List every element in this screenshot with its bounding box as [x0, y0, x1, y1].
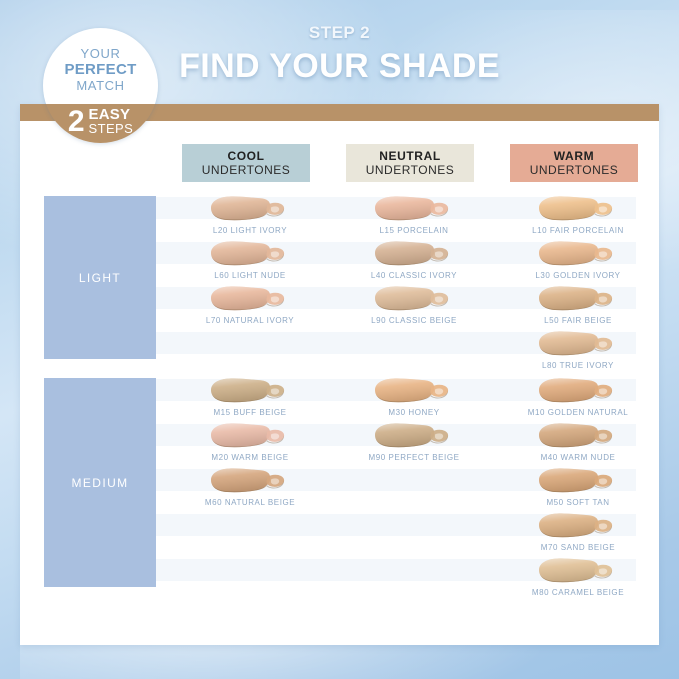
badge-line-easy: EASY — [89, 107, 131, 122]
shade-swatch-shape — [369, 194, 459, 225]
shade-name-label: L80 TRUE IVORY — [504, 361, 652, 371]
shade-cell[interactable]: L40 CLASSIC IVORY — [340, 239, 488, 281]
column-header-warm[interactable]: WARM UNDERTONES — [510, 144, 638, 182]
shade-name-label: M50 SOFT TAN — [504, 498, 652, 508]
badge-bottom-half: 2 EASY STEPS — [43, 104, 158, 143]
shade-swatch-shape — [533, 239, 623, 270]
shade-name-label: L90 CLASSIC BEIGE — [340, 316, 488, 326]
shade-finder-infographic: STEP 2 FIND YOUR SHADE YOUR PERFECT MATC… — [0, 0, 679, 679]
shade-swatch — [205, 421, 295, 452]
column-header-neutral[interactable]: NEUTRAL UNDERTONES — [346, 144, 474, 182]
shade-name-label: M30 HONEY — [340, 408, 488, 418]
shade-name-label: L20 LIGHT IVORY — [176, 226, 324, 236]
shade-swatch-shape — [369, 421, 459, 452]
shade-cell[interactable]: L80 TRUE IVORY — [504, 329, 652, 371]
shade-cell[interactable]: L70 NATURAL IVORY — [176, 284, 324, 326]
column-header-cool[interactable]: COOL UNDERTONES — [182, 144, 310, 182]
shade-cell[interactable]: L20 LIGHT IVORY — [176, 194, 324, 236]
shade-cell[interactable]: M50 SOFT TAN — [504, 466, 652, 508]
shade-cell[interactable]: M20 WARM BEIGE — [176, 421, 324, 463]
badge-step-number: 2 — [68, 107, 85, 137]
shade-chart-card: COOL UNDERTONES NEUTRAL UNDERTONES WARM … — [20, 104, 659, 645]
shade-cell[interactable]: M10 GOLDEN NATURAL — [504, 376, 652, 418]
column-header-warm-title: WARM — [554, 149, 594, 163]
shade-swatch — [369, 194, 459, 225]
shade-swatch-shape — [205, 239, 295, 270]
shade-swatch — [533, 556, 623, 587]
shade-name-label: M20 WARM BEIGE — [176, 453, 324, 463]
shade-swatch — [533, 376, 623, 407]
shade-cell[interactable]: L10 FAIR PORCELAIN — [504, 194, 652, 236]
group-label-light: LIGHT — [79, 271, 121, 285]
shade-swatch-shape — [533, 329, 623, 360]
shade-name-label: L10 FAIR PORCELAIN — [504, 226, 652, 236]
shade-cell[interactable]: M90 PERFECT BEIGE — [340, 421, 488, 463]
badge-top-half: YOUR PERFECT MATCH — [43, 28, 158, 104]
shade-swatch — [369, 376, 459, 407]
shade-name-label: L70 NATURAL IVORY — [176, 316, 324, 326]
shade-cell[interactable]: M15 BUFF BEIGE — [176, 376, 324, 418]
shade-cell[interactable]: M70 SAND BEIGE — [504, 511, 652, 553]
shade-swatch — [369, 421, 459, 452]
shade-name-label: L30 GOLDEN IVORY — [504, 271, 652, 281]
shade-swatch — [205, 194, 295, 225]
shade-name-label: M70 SAND BEIGE — [504, 543, 652, 553]
group-block-medium[interactable]: MEDIUM — [44, 378, 156, 587]
shade-name-label: M90 PERFECT BEIGE — [340, 453, 488, 463]
column-header-neutral-title: NEUTRAL — [379, 149, 441, 163]
shade-swatch — [205, 376, 295, 407]
shade-swatch-shape — [533, 194, 623, 225]
badge-line-match: MATCH — [76, 78, 124, 93]
shade-cell[interactable]: M60 NATURAL BEIGE — [176, 466, 324, 508]
shade-swatch — [533, 421, 623, 452]
shade-swatch — [205, 284, 295, 315]
column-header-neutral-subtitle: UNDERTONES — [366, 163, 455, 178]
shade-swatch — [533, 284, 623, 315]
shade-swatch — [533, 239, 623, 270]
shade-name-label: M15 BUFF BEIGE — [176, 408, 324, 418]
shade-name-label: L40 CLASSIC IVORY — [340, 271, 488, 281]
shade-cell[interactable]: L50 FAIR BEIGE — [504, 284, 652, 326]
shade-swatch-shape — [369, 284, 459, 315]
shade-swatch-shape — [533, 284, 623, 315]
shade-name-label: M10 GOLDEN NATURAL — [504, 408, 652, 418]
shade-swatch — [533, 194, 623, 225]
shade-swatch-shape — [205, 284, 295, 315]
column-header-warm-subtitle: UNDERTONES — [530, 163, 619, 178]
shade-name-label: M80 CARAMEL BEIGE — [504, 588, 652, 598]
shade-swatch-shape — [205, 194, 295, 225]
shade-swatch-shape — [205, 421, 295, 452]
shade-swatch-shape — [533, 556, 623, 587]
shade-swatch — [533, 511, 623, 542]
shade-cell[interactable]: M30 HONEY — [340, 376, 488, 418]
undertone-column-headers: COOL UNDERTONES NEUTRAL UNDERTONES WARM … — [20, 144, 659, 182]
shade-name-label: M60 NATURAL BEIGE — [176, 498, 324, 508]
group-label-medium: MEDIUM — [71, 476, 128, 490]
column-header-cool-title: COOL — [227, 149, 264, 163]
badge-steps-text: EASY STEPS — [89, 107, 134, 136]
shade-name-label: L15 PORCELAIN — [340, 226, 488, 236]
shade-cell[interactable]: L30 GOLDEN IVORY — [504, 239, 652, 281]
perfect-match-badge: YOUR PERFECT MATCH 2 EASY STEPS — [43, 28, 158, 143]
shade-name-label: L50 FAIR BEIGE — [504, 316, 652, 326]
badge-line-steps: STEPS — [89, 122, 134, 136]
badge-line-perfect: PERFECT — [64, 61, 136, 78]
shade-grid: LIGHTMEDIUM L20 LIGHT IVORY — [20, 196, 659, 604]
shade-swatch — [533, 466, 623, 497]
shade-swatch — [205, 239, 295, 270]
shade-swatch — [369, 239, 459, 270]
shade-swatch-shape — [533, 421, 623, 452]
shade-swatch-shape — [533, 511, 623, 542]
shade-cell[interactable]: L15 PORCELAIN — [340, 194, 488, 236]
shade-swatch-shape — [533, 466, 623, 497]
column-header-cool-subtitle: UNDERTONES — [202, 163, 291, 178]
shade-cell[interactable]: L60 LIGHT NUDE — [176, 239, 324, 281]
shade-swatch-shape — [205, 376, 295, 407]
badge-line-your: YOUR — [81, 46, 121, 61]
shade-swatch-shape — [369, 239, 459, 270]
shade-name-label: M40 WARM NUDE — [504, 453, 652, 463]
shade-swatch-shape — [205, 466, 295, 497]
shade-name-label: L60 LIGHT NUDE — [176, 271, 324, 281]
shade-swatch-shape — [369, 376, 459, 407]
shade-swatch — [205, 466, 295, 497]
shade-swatch — [369, 284, 459, 315]
shade-cell[interactable]: L90 CLASSIC BEIGE — [340, 284, 488, 326]
shade-cell[interactable]: M80 CARAMEL BEIGE — [504, 556, 652, 598]
shade-swatch-shape — [533, 376, 623, 407]
shade-swatch — [533, 329, 623, 360]
shade-cell[interactable]: M40 WARM NUDE — [504, 421, 652, 463]
group-block-light[interactable]: LIGHT — [44, 196, 156, 359]
